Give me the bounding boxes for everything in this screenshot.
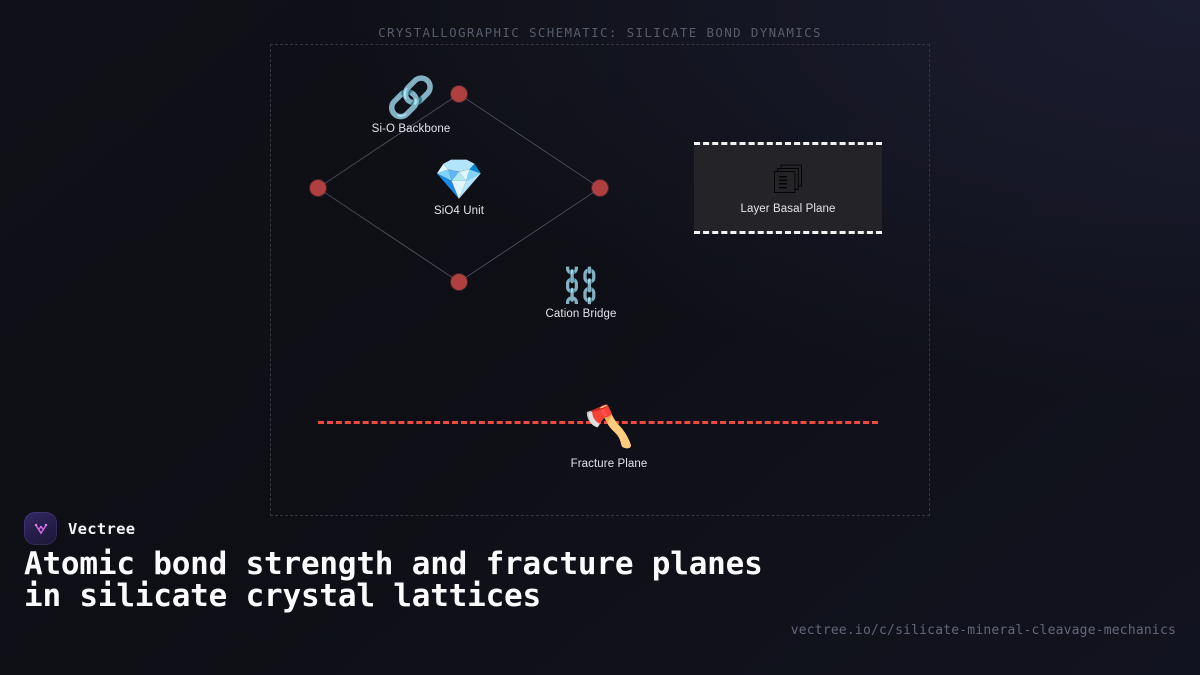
node-label-cation-bridge: Cation Bridge (546, 308, 617, 320)
page-with-tabs-icon: 🗊️ (772, 161, 803, 199)
link-icon: 🔗 (386, 76, 436, 120)
node-si-o-backbone[interactable]: 🔗 Si-O Backbone (372, 76, 451, 135)
layer-basal-plane-label: Layer Basal Plane (740, 203, 835, 215)
fracture-plane-label: Fracture Plane (571, 458, 648, 470)
brand-row[interactable]: Vectree (24, 512, 135, 545)
lattice-node-top[interactable] (451, 86, 467, 102)
chains-icon: ⛓️ (560, 267, 602, 305)
node-fracture-plane[interactable]: 🪓 Fracture Plane (571, 402, 648, 470)
lattice-node-right[interactable] (592, 180, 608, 196)
layer-basal-plane-box[interactable]: 🗊️ Layer Basal Plane (694, 142, 882, 234)
node-cation-bridge[interactable]: ⛓️ Cation Bridge (546, 267, 617, 320)
axe-icon: 🪓 (584, 402, 634, 452)
lattice-node-bottom[interactable] (451, 274, 467, 290)
vectree-logo-icon (24, 512, 57, 545)
page-title: Atomic bond strength and fracture planes… (24, 548, 784, 612)
node-label-sio4-unit: SiO4 Unit (434, 205, 484, 217)
node-sio4-unit[interactable]: 💎 SiO4 Unit (434, 158, 484, 217)
node-label-si-o-backbone: Si-O Backbone (372, 123, 451, 135)
lattice-node-left[interactable] (310, 180, 326, 196)
slide-canvas: CRYSTALLOGRAPHIC SCHEMATIC: SILICATE BON… (0, 0, 1200, 675)
gem-icon: 💎 (434, 158, 484, 202)
footer-url: vectree.io/c/silicate-mineral-cleavage-m… (791, 623, 1176, 638)
brand-name: Vectree (68, 520, 135, 538)
schematic-title: CRYSTALLOGRAPHIC SCHEMATIC: SILICATE BON… (270, 25, 930, 40)
